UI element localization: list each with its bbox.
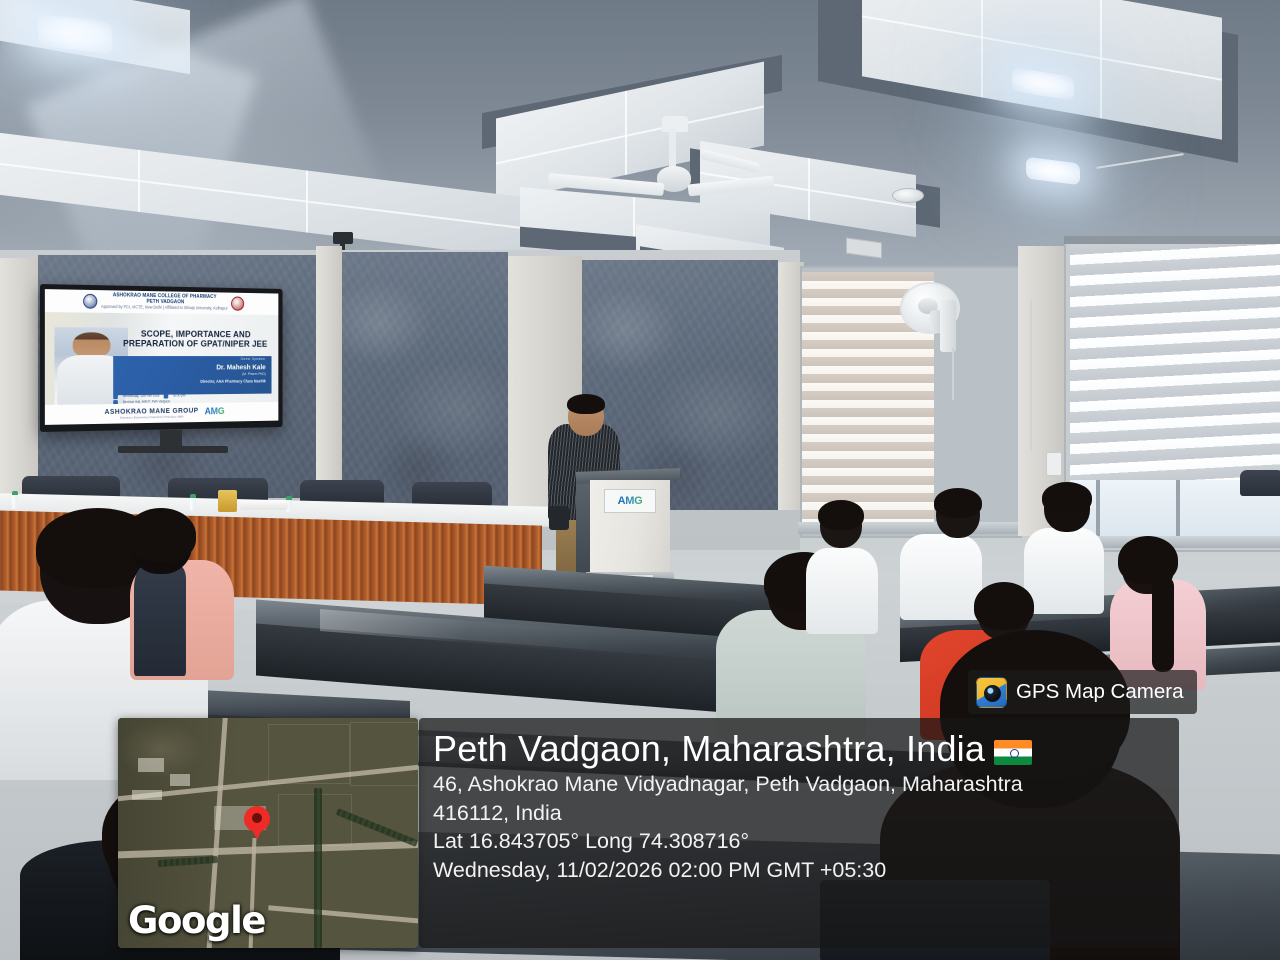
slide-title: SCOPE, IMPORTANCE AND PREPARATION OF GPA… <box>118 328 272 349</box>
slide-screen: ASHOKRAO MANE COLLEGE OF PHARMACY PETH V… <box>45 289 278 425</box>
college-seal-icon <box>83 294 97 309</box>
slide-speaker-name: Dr. Mahesh Kale <box>216 363 265 372</box>
podium-amg-plaque: AMG <box>604 489 656 513</box>
slide-speaker-degree: (M. Pharm PhD) <box>242 373 266 377</box>
audience-student-2-hair <box>934 488 982 518</box>
overlay-address-line1: 46, Ashokrao Mane Vidyadnagar, Peth Vadg… <box>433 770 1179 799</box>
map-field-1 <box>268 724 350 784</box>
smoke-detector-icon <box>892 188 924 203</box>
slide-header: ASHOKRAO MANE COLLEGE OF PHARMACY PETH V… <box>45 289 278 315</box>
gps-map-camera-badge: GPS Map Camera <box>968 670 1197 714</box>
overlay-address-line2: 416112, India <box>433 799 1179 828</box>
window-mullion-2 <box>1176 480 1180 538</box>
wall-pilaster-left <box>0 258 40 508</box>
dais-chair-5[interactable] <box>1240 470 1280 496</box>
rolled-cloth <box>240 500 288 510</box>
presentation-display[interactable]: ASHOKRAO MANE COLLEGE OF PHARMACY PETH V… <box>40 284 283 432</box>
wall-switch-box[interactable] <box>1046 452 1062 476</box>
map-thumbnail[interactable]: Google <box>118 718 418 948</box>
slide-speaker-role: Director, ANA Pharmacy Class Nashik <box>200 379 265 384</box>
gps-app-label: GPS Map Camera <box>1016 680 1183 704</box>
window-mullion-1 <box>1096 480 1100 538</box>
amg-logo-podium: AMG <box>618 495 643 507</box>
audience-saree-hair <box>974 582 1034 630</box>
ceiling-vent <box>846 237 882 258</box>
slide-speaker-band: Guest Speaker Dr. Mahesh Kale (M. Pharm … <box>113 356 271 396</box>
tv-stand-base <box>118 446 228 453</box>
clock-icon <box>164 394 169 399</box>
naac-seal-icon <box>231 296 244 310</box>
map-building-1 <box>138 758 164 772</box>
water-bottle-cap-2 <box>190 494 196 498</box>
india-flag-icon <box>994 740 1032 765</box>
memento-trophy <box>218 490 237 512</box>
slide-college-tagline: Approved by PCI, AICTE, New Delhi | Affi… <box>101 304 228 311</box>
slide-college-heading: ASHOKRAO MANE COLLEGE OF PHARMACY PETH V… <box>101 293 228 311</box>
slide-guest-label: Guest Speaker <box>241 357 266 361</box>
column-wire <box>1030 300 1032 450</box>
audience-student-3-hair <box>1042 482 1092 514</box>
audience-student-2-body <box>900 534 982 620</box>
audience-left-2-vest <box>134 566 186 676</box>
audience-right-1-braid <box>1152 576 1174 672</box>
slide-meta-time: 02:00 pm <box>173 394 185 398</box>
water-bottle-2[interactable] <box>190 498 196 511</box>
water-bottle-1[interactable] <box>12 495 18 509</box>
slide-meta-date: Wednesday, 11th Feb 2026 <box>123 394 160 398</box>
amg-logo-slide: AMG <box>205 407 225 418</box>
location-info-overlay: Peth Vadgaon, Maharashtra, India 46, Ash… <box>419 718 1179 948</box>
audience-student-1-body <box>806 548 878 634</box>
overlay-location-title: Peth Vadgaon, Maharashtra, India <box>433 728 1179 770</box>
audience-left-2-hair <box>126 508 196 562</box>
ceiling-light-3 <box>1026 157 1080 186</box>
wall-fan-bracket <box>940 300 956 352</box>
water-bottle-cap-3 <box>286 496 292 500</box>
window-blinds-right <box>1070 244 1280 480</box>
slide-footer-brand: ASHOKRAO MANE GROUP Education | Engineer… <box>105 406 199 420</box>
slide-body: SCOPE, IMPORTANCE AND PREPARATION OF GPA… <box>45 312 278 404</box>
camera-app-icon <box>976 677 1007 708</box>
screenshot-root: ASHOKRAO MANE COLLEGE OF PHARMACY PETH V… <box>0 0 1280 960</box>
map-treeline-1 <box>314 788 322 948</box>
slide-college-place: PETH VADGAON <box>146 299 184 305</box>
ceiling-fan-rod <box>669 128 676 170</box>
water-bottle-cap-1 <box>12 491 18 495</box>
map-field-2 <box>350 722 418 786</box>
audience-student-3-body <box>1024 528 1104 614</box>
dais-chair-4[interactable] <box>412 482 492 506</box>
map-building-2 <box>170 774 190 786</box>
overlay-coordinates: Lat 16.843705° Long 74.308716° <box>433 827 1179 856</box>
overlay-timestamp: Wednesday, 11/02/2026 02:00 PM GMT +05:3… <box>433 856 1179 885</box>
map-pin-icon <box>244 806 270 832</box>
wall-accent-panel-2 <box>342 252 508 508</box>
presenter-hair <box>567 394 605 414</box>
presenter-waist-pouch <box>549 506 569 530</box>
map-building-3 <box>132 790 162 800</box>
wall-fan-wire <box>952 348 954 400</box>
overlay-location-text: Peth Vadgaon, Maharashtra, India <box>433 728 985 769</box>
audience-student-1-hair <box>818 500 864 530</box>
window-head-rail <box>1064 236 1280 244</box>
wall-pilaster-mid <box>316 246 342 504</box>
calendar-icon <box>113 394 118 399</box>
google-watermark: Google <box>128 899 265 942</box>
